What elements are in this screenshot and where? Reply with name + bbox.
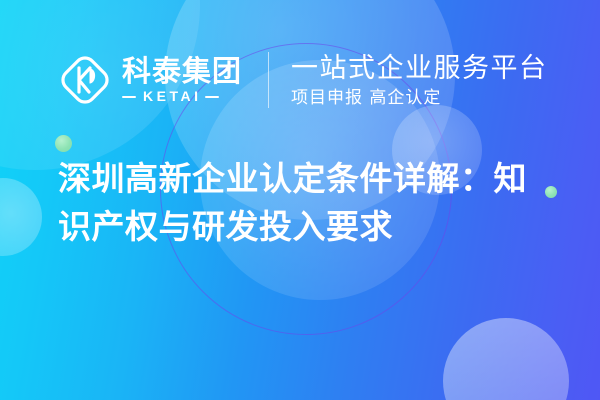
slogan-sub: 项目申报 高企认定 — [291, 88, 548, 108]
decorative-dot-green-left — [55, 135, 72, 152]
decorative-circle-bottom-right — [443, 318, 569, 400]
header-divider — [268, 52, 269, 108]
brand-rule-left-icon — [122, 96, 136, 98]
decorative-circle-left-edge — [0, 178, 42, 256]
brand-name-en-row: KETAI — [122, 89, 242, 104]
brand-wordmark: 科泰集团 KETAI — [122, 56, 242, 104]
promo-banner: 科泰集团 KETAI 一站式企业服务平台 项目申报 高企认定 深圳高新企业认定条… — [0, 0, 600, 400]
brand-name-cn: 科泰集团 — [122, 56, 242, 87]
page-title: 深圳高新企业认定条件详解：知识产权与研发投入要求 — [58, 155, 558, 251]
ketai-diamond-logo-icon — [58, 53, 112, 107]
brand-name-en: KETAI — [143, 89, 201, 104]
slogan-block: 一站式企业服务平台 项目申报 高企认定 — [291, 53, 548, 108]
slogan-main: 一站式企业服务平台 — [291, 53, 548, 84]
brand-rule-right-icon — [205, 96, 219, 98]
banner-header: 科泰集团 KETAI 一站式企业服务平台 项目申报 高企认定 — [58, 46, 548, 114]
